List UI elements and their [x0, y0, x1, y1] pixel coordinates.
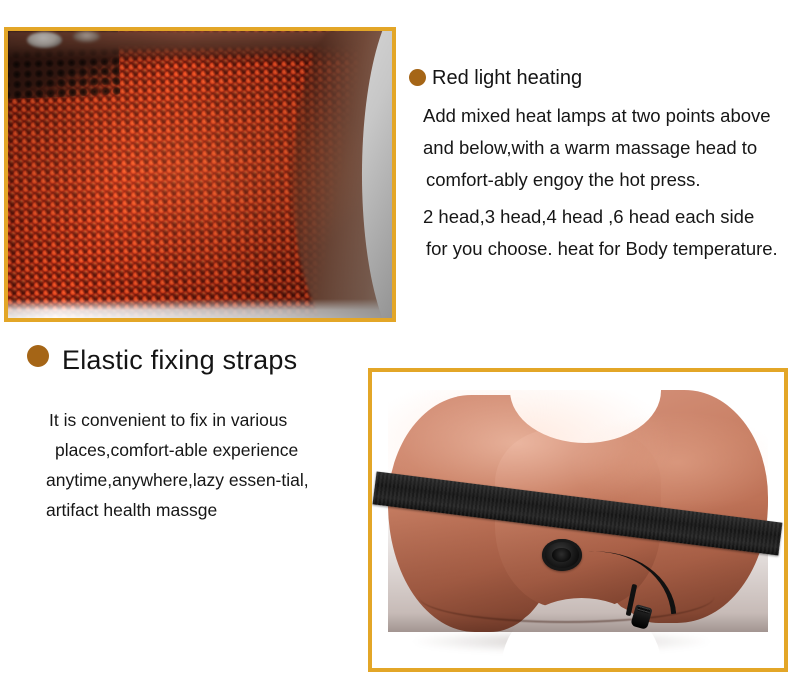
feature-heading-red-light-heating: Red light heating [432, 66, 582, 90]
feature-paragraph-heating-secondary: 2 head,3 head,4 head ,6 head each side f… [423, 201, 778, 265]
bullet-dot-icon-straps [27, 345, 49, 367]
feature-paragraph-straps: It is convenient to fix in various place… [46, 405, 309, 525]
feature-heading-elastic-fixing-straps: Elastic fixing straps [62, 344, 297, 376]
bullet-dot-icon-heating [409, 69, 426, 86]
paragraph-line: artifact health massge [46, 495, 309, 525]
paragraph-line: for you choose. heat for Body temperatur… [423, 233, 778, 265]
paragraph-line: comfort-ably engoy the hot press. [423, 164, 771, 196]
pillow-photo-inner [372, 372, 784, 668]
pillow-photo-background [372, 372, 784, 668]
mesh-photo-inner [8, 31, 392, 318]
paragraph-line: and below,with a warm massage head to [423, 132, 771, 164]
paragraph-line: anytime,anywhere,lazy essen-tial, [46, 465, 309, 495]
pillow-body [388, 390, 767, 633]
photo-white-backdrop-bottom [8, 299, 392, 318]
paragraph-line: Add mixed heat lamps at two points above [423, 100, 771, 132]
paragraph-line: places,comfort-able experience [46, 435, 309, 465]
paragraph-line: It is convenient to fix in various [46, 405, 309, 435]
pillow-with-strap-photo [368, 368, 788, 672]
feature-paragraph-heating-primary: Add mixed heat lamps at two points above… [423, 100, 771, 196]
product-feature-page: Red light heating Add mixed heat lamps a… [0, 0, 800, 678]
paragraph-line: 2 head,3 head,4 head ,6 head each side [423, 201, 778, 233]
pillow-highlight-spot [27, 32, 62, 48]
red-light-mesh-photo [4, 27, 396, 322]
